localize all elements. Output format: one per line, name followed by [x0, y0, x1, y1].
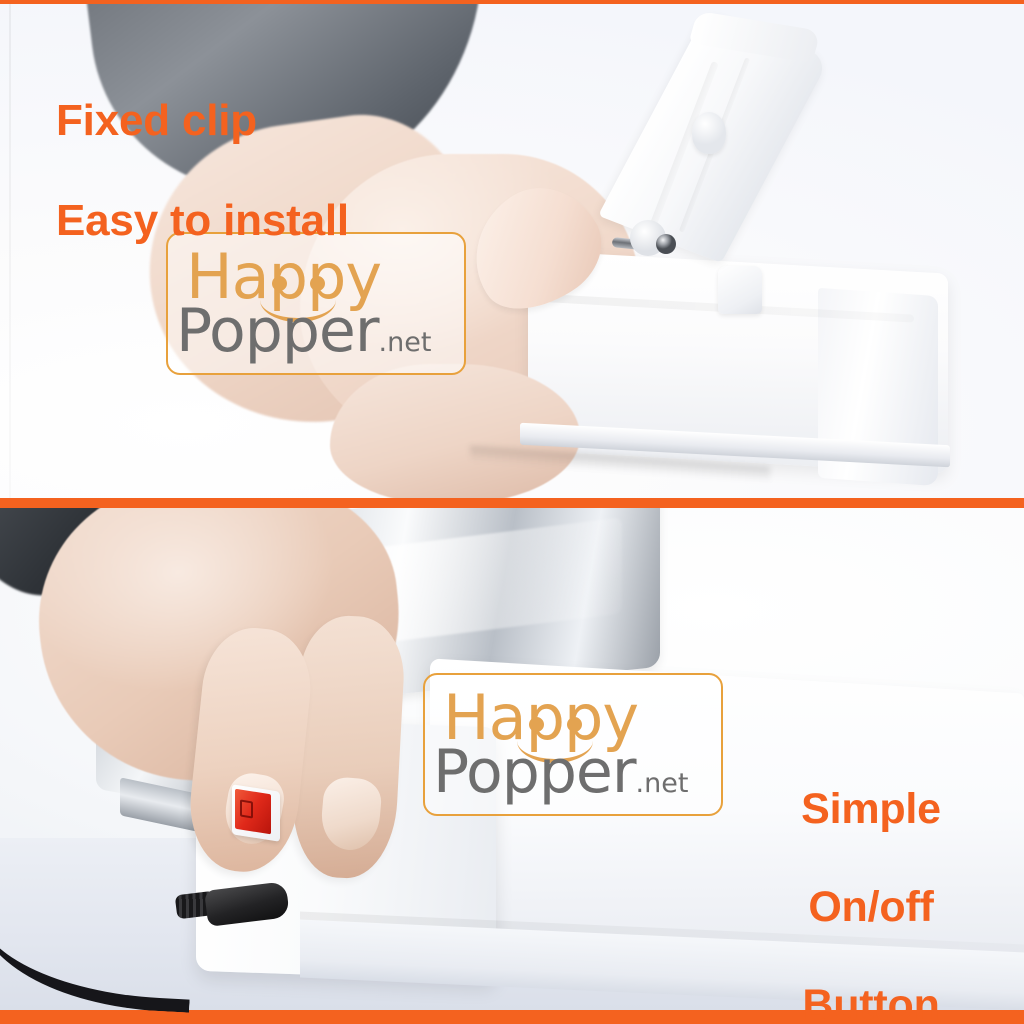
watermark-tld: .net — [636, 768, 689, 799]
watermark-brand-secondary-text: Popper — [176, 296, 379, 366]
caption-line: Easy to install — [56, 196, 349, 246]
caption-fixed-clip: Fixed clip Easy to install — [56, 46, 349, 297]
watermark-brand-secondary: Popper.net — [176, 296, 431, 366]
caption-line: Fixed clip — [56, 96, 349, 146]
panel-divider — [0, 498, 1024, 508]
product-promo-card: Fixed clip Easy to install Simple On/off… — [0, 0, 1024, 1024]
caption-line: Button — [746, 981, 996, 1024]
watermark-brand-secondary-text: Popper — [433, 737, 636, 807]
power-switch-icon[interactable] — [232, 784, 280, 842]
caption-line: On/off — [746, 883, 996, 932]
hinge-pin — [656, 234, 676, 254]
backdrop-seam — [9, 4, 11, 498]
latch-knob — [718, 266, 762, 314]
watermark-inner: Happy Popper.net — [425, 675, 721, 814]
watermark-brand-secondary: Popper.net — [433, 737, 688, 807]
caption-line: Simple — [746, 785, 996, 834]
power-switch-rocker[interactable] — [235, 789, 271, 835]
caption-onoff-button: Simple On/off Button — [746, 736, 996, 1024]
watermark-tld: .net — [379, 327, 432, 358]
power-switch-glyph — [240, 799, 253, 818]
watermark-logo: Happy Popper.net — [423, 673, 723, 816]
lid-stud — [692, 112, 726, 154]
